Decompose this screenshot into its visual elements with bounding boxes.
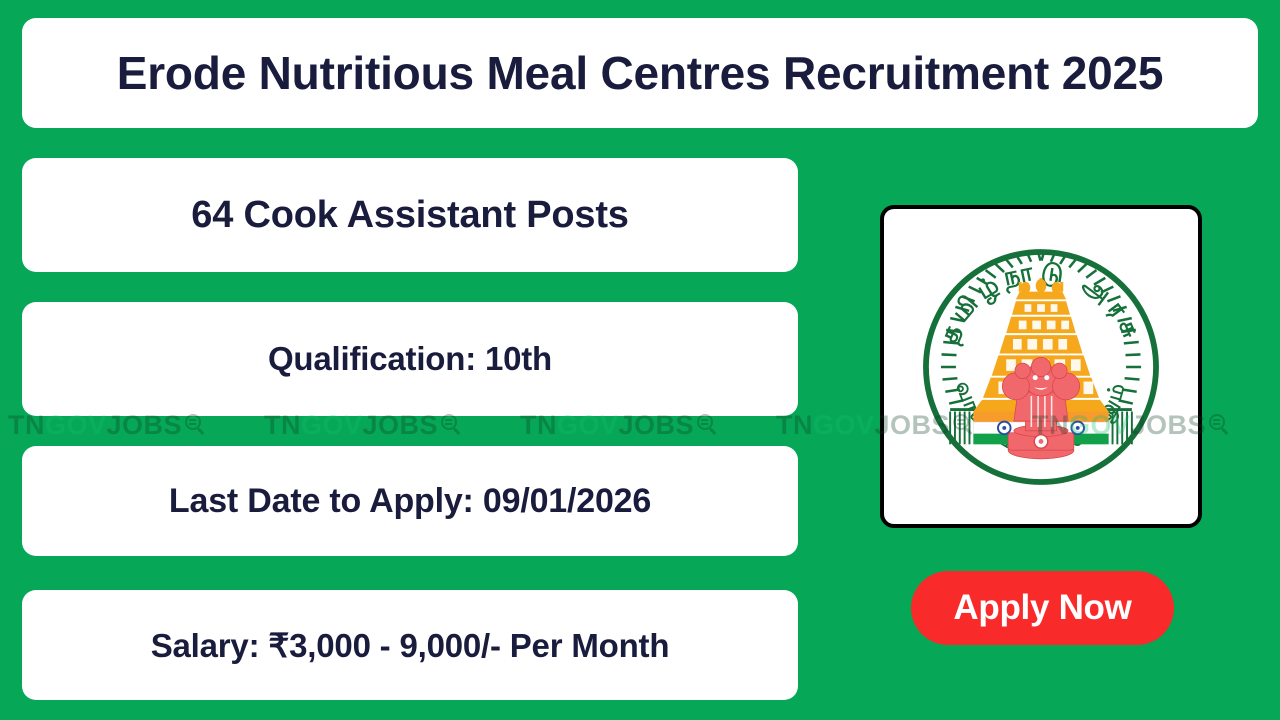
magnifier-icon — [185, 414, 207, 436]
poster-title-card: Erode Nutritious Meal Centres Recruitmen… — [22, 18, 1258, 128]
last-date-text: Last Date to Apply: 09/01/2026 — [169, 482, 651, 521]
qualification-card: Qualification: 10th — [22, 302, 798, 416]
apply-now-button[interactable]: Apply Now — [911, 571, 1174, 645]
last-date-card: Last Date to Apply: 09/01/2026 — [22, 446, 798, 556]
tamil-nadu-government-emblem-icon: தமிழ்நாடு அரசு வாய்மையே வெல்லும் — [896, 222, 1186, 512]
salary-text: Salary: ₹3,000 - 9,000/- Per Month — [151, 626, 670, 665]
recruitment-poster: Erode Nutritious Meal Centres Recruitmen… — [0, 0, 1280, 720]
qualification-text: Qualification: 10th — [268, 340, 552, 378]
magnifier-icon — [1209, 414, 1231, 436]
watermark-part-gov: GOV — [813, 412, 875, 439]
magnifier-icon — [441, 414, 463, 436]
page-title: Erode Nutritious Meal Centres Recruitmen… — [117, 46, 1164, 100]
emblem-card: தமிழ்நாடு அரசு வாய்மையே வெல்லும் — [880, 205, 1202, 528]
vacancy-count-card: 64 Cook Assistant Posts — [22, 158, 798, 272]
salary-card: Salary: ₹3,000 - 9,000/- Per Month — [22, 590, 798, 700]
magnifier-icon — [697, 414, 719, 436]
vacancy-count-text: 64 Cook Assistant Posts — [191, 194, 628, 237]
